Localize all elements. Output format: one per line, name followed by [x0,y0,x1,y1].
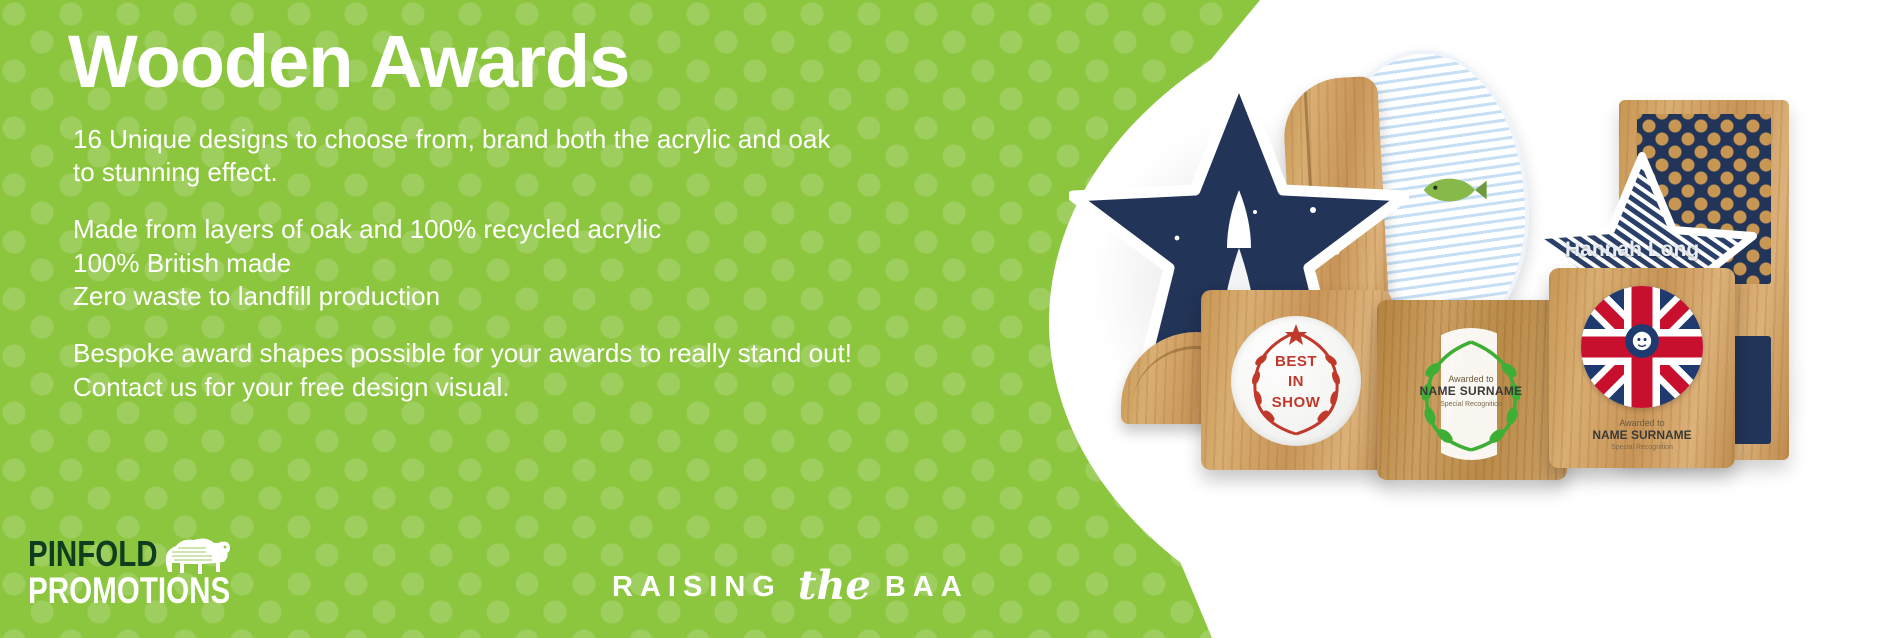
page-title: Wooden Awards [68,24,968,101]
banner-copy: Wooden Awards 16 Unique designs to choos… [68,24,968,404]
paragraph-designs: 16 Unique designs to choose from, brand … [68,123,968,190]
best-in-show-text: BESTINSHOW [1231,352,1361,413]
union-jack-plaque-text: Awarded to NAME SURNAME Special Recognit… [1555,418,1729,451]
product-plaque-union-jack-lion: Awarded to NAME SURNAME Special Recognit… [1549,268,1735,468]
product-plaque-name-surname-laurel: Awarded to NAME SURNAME Special Recognit… [1377,300,1567,480]
fish-icon [1419,172,1489,208]
awards-group: OutstandingMemberof the Year Hannah Long [979,0,1879,638]
sheep-icon [158,530,234,578]
tagline-word-baa: BAA [885,571,969,604]
wooden-awards-banner: OutstandingMemberof the Year Hannah Long [0,0,1879,638]
paragraph-bespoke: Bespoke award shapes possible for your a… [68,337,968,404]
logo-line-pinfold: PINFOLD [28,536,158,572]
tagline-word-raising: RAISING [612,571,782,604]
best-in-show-acrylic-roundel: BESTINSHOW [1231,316,1361,446]
union-jack-roundel [1581,286,1703,408]
tagline-word-the: the [782,562,885,609]
paragraph-materials: Made from layers of oak and 100% recycle… [68,213,968,313]
copy-line: Made from layers of oak and 100% recycle… [73,213,968,246]
hannah-long-text: Hannah Long [1565,238,1699,262]
lion-head-icon [1619,318,1665,364]
copy-line: to stunning effect. [73,156,968,189]
product-photo-stage: OutstandingMemberof the Year Hannah Long [979,0,1879,638]
copy-line: Contact us for your free design visual. [73,371,968,404]
laurel-acrylic-roundel: Awarded to NAME SURNAME Special Recognit… [1405,328,1537,460]
copy-line: Bespoke award shapes possible for your a… [73,337,968,370]
copy-line: 100% British made [73,247,968,280]
copy-line: 16 Unique designs to choose from, brand … [73,123,968,156]
tagline: RAISING the BAA [612,559,969,606]
pinfold-promotions-logo[interactable]: PINFOLD PROMOTIONS [22,532,242,618]
product-plaque-best-in-show: BESTINSHOW [1201,290,1391,470]
laurel-plaque-text: Awarded to NAME SURNAME Special Recognit… [1411,374,1531,408]
copy-line: Zero waste to landfill production [73,280,968,313]
